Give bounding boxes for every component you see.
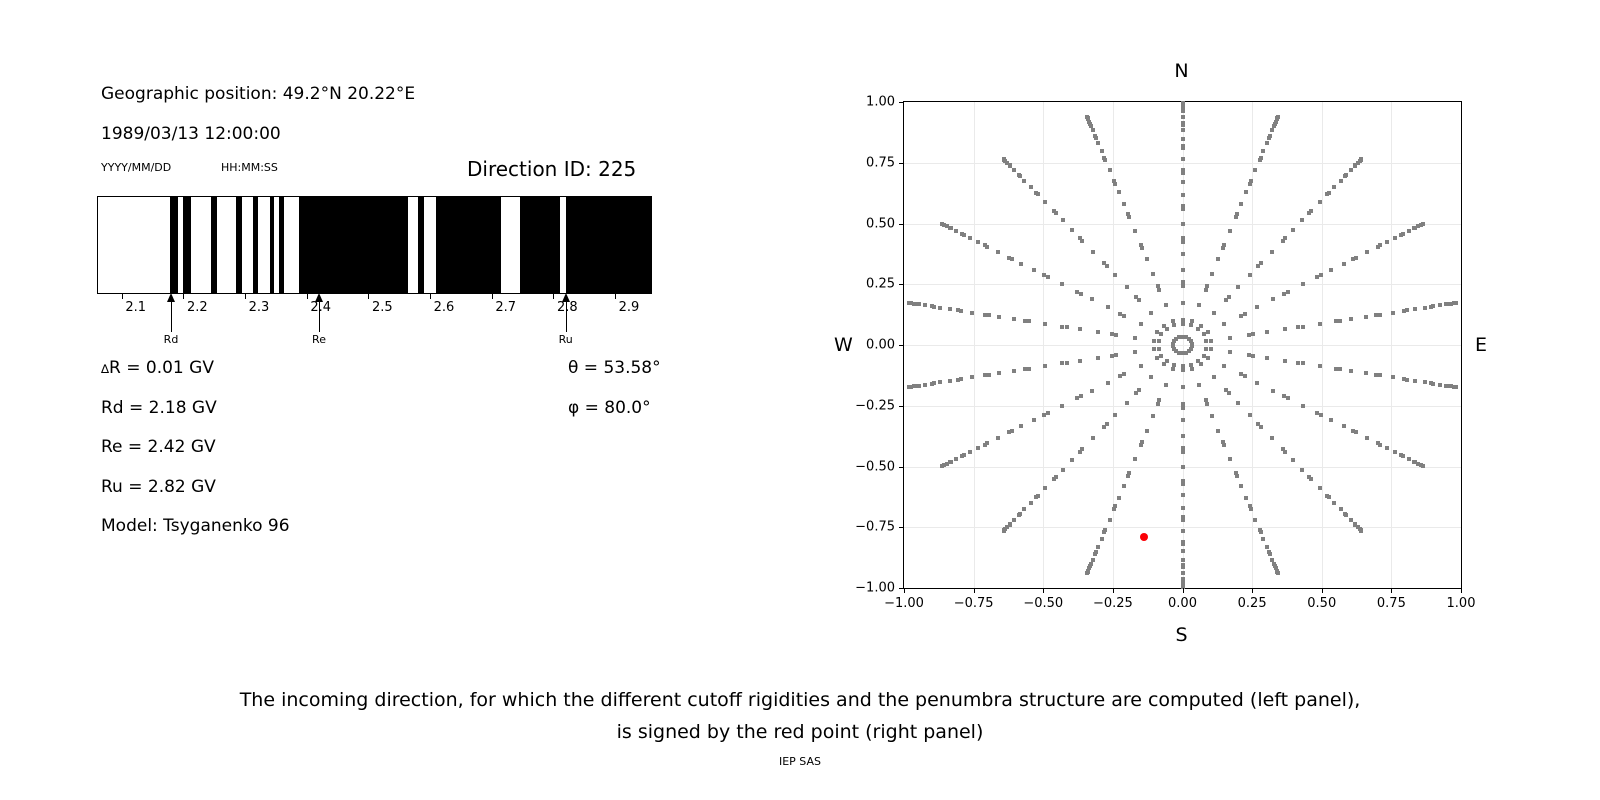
sky-direction-dot[interactable] bbox=[1286, 396, 1290, 400]
sky-direction-dot[interactable] bbox=[1255, 305, 1259, 309]
sky-direction-dot[interactable] bbox=[1061, 218, 1065, 222]
sky-direction-dot[interactable] bbox=[1100, 537, 1104, 541]
sky-direction-dot[interactable] bbox=[996, 436, 1000, 440]
sky-direction-dot[interactable] bbox=[1354, 430, 1358, 434]
sky-direction-dot[interactable] bbox=[1181, 268, 1185, 272]
sky-direction-dot[interactable] bbox=[968, 236, 972, 240]
sky-direction-dot[interactable] bbox=[1065, 361, 1069, 365]
sky-direction-dot[interactable] bbox=[1022, 179, 1026, 183]
sky-direction-dot[interactable] bbox=[1181, 493, 1185, 497]
sky-direction-dot[interactable] bbox=[976, 240, 980, 244]
sky-direction-dot[interactable] bbox=[1212, 311, 1216, 315]
sky-direction-dot[interactable] bbox=[1224, 298, 1228, 302]
sky-direction-dot[interactable] bbox=[1421, 222, 1425, 226]
sky-direction-dot[interactable] bbox=[1268, 552, 1272, 556]
sky-direction-dot[interactable] bbox=[1181, 450, 1185, 454]
sky-direction-dot[interactable] bbox=[1315, 275, 1319, 279]
sky-direction-dot[interactable] bbox=[1181, 101, 1185, 105]
sky-direction-dot[interactable] bbox=[1002, 157, 1006, 161]
sky-direction-dot[interactable] bbox=[1228, 457, 1232, 461]
sky-direction-dot[interactable] bbox=[1265, 141, 1269, 145]
sky-direction-dot[interactable] bbox=[1181, 368, 1185, 372]
sky-direction-dot[interactable] bbox=[1210, 272, 1214, 276]
sky-direction-dot[interactable] bbox=[948, 307, 952, 311]
sky-direction-dot[interactable] bbox=[1155, 330, 1159, 334]
sky-direction-dot[interactable] bbox=[1265, 330, 1269, 334]
sky-direction-dot[interactable] bbox=[1096, 141, 1100, 145]
sky-direction-dot[interactable] bbox=[1300, 218, 1304, 222]
sky-direction-dot[interactable] bbox=[1070, 458, 1074, 462]
sky-direction-dot[interactable] bbox=[1085, 115, 1089, 119]
sky-direction-dot[interactable] bbox=[1103, 528, 1107, 532]
sky-direction-dot[interactable] bbox=[1216, 429, 1220, 433]
sky-direction-dot[interactable] bbox=[1070, 228, 1074, 232]
sky-direction-dot[interactable] bbox=[1315, 411, 1319, 415]
sky-direction-dot[interactable] bbox=[1112, 179, 1116, 183]
sky-direction-dot[interactable] bbox=[1060, 404, 1064, 408]
sky-direction-dot[interactable] bbox=[1117, 190, 1121, 194]
sky-direction-dot[interactable] bbox=[1221, 246, 1225, 250]
sky-direction-dot[interactable] bbox=[1265, 356, 1269, 360]
sky-direction-dot[interactable] bbox=[1243, 374, 1247, 378]
sky-direction-dot[interactable] bbox=[1199, 362, 1203, 366]
sky-direction-dot[interactable] bbox=[976, 446, 980, 450]
sky-direction-dot[interactable] bbox=[1181, 506, 1185, 510]
sky-direction-dot[interactable] bbox=[1181, 518, 1185, 522]
sky-direction-dot[interactable] bbox=[1413, 379, 1417, 383]
sky-direction-dot[interactable] bbox=[1133, 229, 1137, 233]
sky-direction-dot[interactable] bbox=[1117, 496, 1121, 500]
sky-direction-dot[interactable] bbox=[1239, 372, 1243, 376]
sky-direction-dot[interactable] bbox=[1354, 256, 1358, 260]
sky-direction-dot[interactable] bbox=[1228, 336, 1232, 340]
sky-direction-dot[interactable] bbox=[1157, 288, 1161, 292]
sky-direction-dot[interactable] bbox=[1181, 236, 1185, 240]
sky-direction-dot[interactable] bbox=[1149, 375, 1153, 379]
sky-direction-dot[interactable] bbox=[1359, 529, 1363, 533]
sky-direction-dot[interactable] bbox=[1268, 134, 1272, 138]
sky-direction-dot[interactable] bbox=[1090, 389, 1094, 393]
sky-direction-dot[interactable] bbox=[1209, 339, 1213, 343]
sky-direction-dot[interactable] bbox=[1151, 414, 1155, 418]
sky-direction-dot[interactable] bbox=[1444, 384, 1448, 388]
sky-direction-dot[interactable] bbox=[1212, 375, 1216, 379]
sky-direction-dot[interactable] bbox=[1423, 306, 1427, 310]
sky-direction-dot[interactable] bbox=[1002, 529, 1006, 533]
sky-direction-dot[interactable] bbox=[1181, 571, 1185, 575]
sky-direction-dot[interactable] bbox=[1181, 482, 1185, 486]
sky-direction-dot[interactable] bbox=[1365, 250, 1369, 254]
sky-direction-dot[interactable] bbox=[985, 441, 989, 445]
sky-direction-dot[interactable] bbox=[1234, 215, 1238, 219]
sky-direction-dot[interactable] bbox=[1197, 383, 1201, 387]
sky-direction-dot[interactable] bbox=[1085, 571, 1089, 575]
sky-direction-dot[interactable] bbox=[1027, 319, 1031, 323]
sky-direction-dot[interactable] bbox=[1216, 257, 1220, 261]
sky-direction-dot[interactable] bbox=[1325, 494, 1329, 498]
sky-direction-dot[interactable] bbox=[1253, 518, 1257, 522]
sky-direction-dot[interactable] bbox=[1251, 354, 1255, 358]
sky-direction-dot[interactable] bbox=[1078, 327, 1082, 331]
sky-direction-dot[interactable] bbox=[1127, 215, 1131, 219]
sky-direction-dot[interactable] bbox=[1228, 229, 1232, 233]
sky-direction-dot[interactable] bbox=[940, 464, 944, 468]
sky-direction-dot[interactable] bbox=[1401, 454, 1405, 458]
sky-direction-dot[interactable] bbox=[1032, 418, 1036, 422]
sky-direction-dot[interactable] bbox=[1106, 381, 1110, 385]
sky-direction-dot[interactable] bbox=[1181, 137, 1185, 141]
sky-direction-dot[interactable] bbox=[1159, 332, 1163, 336]
sky-direction-dot[interactable] bbox=[1454, 301, 1458, 305]
sky-direction-dot[interactable] bbox=[1145, 429, 1149, 433]
sky-direction-dot[interactable] bbox=[1100, 149, 1104, 153]
sky-direction-dot[interactable] bbox=[1197, 303, 1201, 307]
sky-direction-dot[interactable] bbox=[1258, 528, 1262, 532]
sky-direction-dot[interactable] bbox=[1423, 380, 1427, 384]
sky-direction-dot[interactable] bbox=[1079, 394, 1083, 398]
sky-direction-dot[interactable] bbox=[1344, 173, 1348, 177]
sky-direction-dot[interactable] bbox=[1385, 240, 1389, 244]
sky-direction-dot[interactable] bbox=[1204, 339, 1208, 343]
sky-direction-dot[interactable] bbox=[1108, 518, 1112, 522]
sky-direction-dot[interactable] bbox=[1110, 354, 1114, 358]
sky-direction-dot[interactable] bbox=[1181, 465, 1185, 469]
sky-direction-dot[interactable] bbox=[1122, 314, 1126, 318]
sky-direction-dot[interactable] bbox=[1318, 486, 1322, 490]
sky-direction-dot[interactable] bbox=[1224, 388, 1228, 392]
sky-direction-dot[interactable] bbox=[1139, 364, 1143, 368]
sky-direction-dot[interactable] bbox=[1222, 322, 1226, 326]
sky-direction-dot[interactable] bbox=[1329, 418, 1333, 422]
sky-direction-dot[interactable] bbox=[1140, 246, 1144, 250]
sky-direction-dot[interactable] bbox=[1270, 250, 1274, 254]
sky-direction-dot[interactable] bbox=[1019, 424, 1023, 428]
sky-direction-dot[interactable] bbox=[1019, 262, 1023, 266]
sky-direction-dot[interactable] bbox=[1261, 149, 1265, 153]
sky-direction-dot[interactable] bbox=[997, 315, 1001, 319]
sky-direction-dot[interactable] bbox=[959, 309, 963, 313]
sky-direction-dot[interactable] bbox=[1046, 411, 1050, 415]
sky-direction-dot[interactable] bbox=[1122, 202, 1126, 206]
sky-direction-dot[interactable] bbox=[1189, 323, 1193, 327]
sky-direction-dot[interactable] bbox=[1122, 372, 1126, 376]
sky-direction-dot[interactable] bbox=[1172, 323, 1176, 327]
sky-direction-dot[interactable] bbox=[1342, 262, 1346, 266]
sky-direction-dot[interactable] bbox=[1283, 359, 1287, 363]
sky-direction-dot[interactable] bbox=[1391, 311, 1395, 315]
sky-direction-dot[interactable] bbox=[1139, 322, 1143, 326]
sky-direction-dot[interactable] bbox=[1181, 284, 1185, 288]
sky-direction-dot[interactable] bbox=[1319, 273, 1323, 277]
sky-direction-dot[interactable] bbox=[1181, 240, 1185, 244]
sky-direction-dot[interactable] bbox=[1152, 339, 1156, 343]
sky-direction-dot[interactable] bbox=[1149, 311, 1153, 315]
sky-direction-dot[interactable] bbox=[1089, 124, 1093, 128]
sky-direction-dot[interactable] bbox=[1204, 347, 1208, 351]
sky-direction-dot[interactable] bbox=[1181, 406, 1185, 410]
sky-direction-dot[interactable] bbox=[1181, 180, 1185, 184]
sky-direction-dot[interactable] bbox=[1249, 179, 1253, 183]
sky-direction-dot[interactable] bbox=[968, 450, 972, 454]
sky-direction-dot[interactable] bbox=[1133, 457, 1137, 461]
sky-direction-dot[interactable] bbox=[1271, 297, 1275, 301]
sky-direction-dot[interactable] bbox=[1052, 477, 1056, 481]
sky-direction-dot[interactable] bbox=[1318, 322, 1322, 326]
sky-direction-dot[interactable] bbox=[1112, 507, 1116, 511]
sky-direction-dot[interactable] bbox=[1244, 496, 1248, 500]
sky-direction-dot[interactable] bbox=[1012, 317, 1016, 321]
sky-direction-dot[interactable] bbox=[1036, 494, 1040, 498]
sky-direction-dot[interactable] bbox=[954, 457, 958, 461]
sky-direction-dot[interactable] bbox=[1281, 239, 1285, 243]
sky-direction-dot[interactable] bbox=[1152, 347, 1156, 351]
sky-direction-dot[interactable] bbox=[1091, 558, 1095, 562]
sky-direction-dot[interactable] bbox=[1332, 185, 1336, 189]
sky-direction-dot[interactable] bbox=[1454, 385, 1458, 389]
sky-direction-dot[interactable] bbox=[1181, 322, 1185, 326]
sky-direction-dot[interactable] bbox=[1407, 229, 1411, 233]
sky-direction-dot[interactable] bbox=[1438, 303, 1442, 307]
sky-direction-dot[interactable] bbox=[1385, 446, 1389, 450]
sky-direction-dot[interactable] bbox=[997, 371, 1001, 375]
sky-direction-dot[interactable] bbox=[1365, 436, 1369, 440]
sky-direction-dot[interactable] bbox=[1181, 121, 1185, 125]
sky-direction-dot[interactable] bbox=[1206, 330, 1210, 334]
sky-direction-dot[interactable] bbox=[1181, 434, 1185, 438]
sky-direction-dot[interactable] bbox=[1181, 115, 1185, 119]
sky-direction-dot[interactable] bbox=[1043, 486, 1047, 490]
sky-direction-dot[interactable] bbox=[1110, 332, 1114, 336]
sky-direction-dot[interactable] bbox=[1181, 109, 1185, 113]
sky-direction-dot[interactable] bbox=[1249, 507, 1253, 511]
sky-direction-dot[interactable] bbox=[1181, 193, 1185, 197]
sky-direction-dot[interactable] bbox=[1157, 339, 1161, 343]
sky-direction-dot[interactable] bbox=[1228, 350, 1232, 354]
sky-direction-dot[interactable] bbox=[1181, 301, 1185, 305]
sky-direction-dot[interactable] bbox=[1344, 513, 1348, 517]
sky-direction-dot[interactable] bbox=[1091, 128, 1095, 132]
sky-direction-dot[interactable] bbox=[1171, 319, 1175, 323]
sky-direction-dot[interactable] bbox=[1291, 228, 1295, 232]
sky-direction-dot[interactable] bbox=[1438, 383, 1442, 387]
sky-direction-dot[interactable] bbox=[1364, 315, 1368, 319]
sky-direction-dot[interactable] bbox=[1096, 545, 1100, 549]
sky-direction-dot[interactable] bbox=[1181, 540, 1185, 544]
sky-direction-dot[interactable] bbox=[1261, 537, 1265, 541]
sky-direction-dot[interactable] bbox=[1096, 356, 1100, 360]
sky-direction-dot[interactable] bbox=[1393, 236, 1397, 240]
sky-direction-dot[interactable] bbox=[1102, 261, 1106, 265]
sky-direction-dot[interactable] bbox=[1301, 404, 1305, 408]
sky-direction-dot[interactable] bbox=[1407, 457, 1411, 461]
sky-direction-dot[interactable] bbox=[985, 245, 989, 249]
sky-direction-dot[interactable] bbox=[1325, 192, 1329, 196]
sky-direction-dot[interactable] bbox=[1061, 468, 1065, 472]
sky-direction-dot[interactable] bbox=[1043, 322, 1047, 326]
sky-direction-dot[interactable] bbox=[1286, 290, 1290, 294]
sky-direction-dot[interactable] bbox=[1080, 447, 1084, 451]
sky-direction-dot[interactable] bbox=[907, 385, 911, 389]
sky-direction-dot[interactable] bbox=[1247, 333, 1251, 337]
sky-direction-dot[interactable] bbox=[1300, 468, 1304, 472]
sky-direction-dot[interactable] bbox=[1301, 361, 1305, 365]
sky-direction-dot[interactable] bbox=[1078, 359, 1082, 363]
sky-direction-dot[interactable] bbox=[1265, 545, 1269, 549]
sky-direction-dot[interactable] bbox=[1209, 347, 1213, 351]
sky-direction-dot[interactable] bbox=[1017, 173, 1021, 177]
sky-direction-dot[interactable] bbox=[1103, 158, 1107, 162]
sky-direction-dot[interactable] bbox=[1276, 571, 1280, 575]
sky-direction-dot[interactable] bbox=[1319, 413, 1323, 417]
sky-direction-dot[interactable] bbox=[1029, 501, 1033, 505]
sky-direction-dot[interactable] bbox=[1431, 382, 1435, 386]
sky-direction-dot[interactable] bbox=[1027, 367, 1031, 371]
sky-direction-dot[interactable] bbox=[1181, 252, 1185, 256]
sky-direction-dot[interactable] bbox=[1248, 413, 1252, 417]
sky-direction-dot[interactable] bbox=[1181, 549, 1185, 553]
sky-direction-dot[interactable] bbox=[1093, 134, 1097, 138]
sky-direction-dot[interactable] bbox=[1052, 209, 1056, 213]
sky-direction-dot[interactable] bbox=[1181, 418, 1185, 422]
sky-direction-dot[interactable] bbox=[1339, 179, 1343, 183]
sky-direction-dot[interactable] bbox=[1145, 257, 1149, 261]
sky-direction-dot[interactable] bbox=[1181, 207, 1185, 211]
sky-direction-dot[interactable] bbox=[1133, 336, 1137, 340]
sky-direction-dot[interactable] bbox=[917, 384, 921, 388]
sky-direction-dot[interactable] bbox=[1181, 558, 1185, 562]
sky-direction-dot[interactable] bbox=[1091, 250, 1095, 254]
sky-direction-dot[interactable] bbox=[1139, 243, 1143, 247]
sky-direction-dot[interactable] bbox=[1157, 347, 1161, 351]
sky-direction-dot[interactable] bbox=[1181, 318, 1185, 322]
sky-direction-dot[interactable] bbox=[1239, 314, 1243, 318]
sky-direction-dot[interactable] bbox=[1093, 552, 1097, 556]
sky-direction-dot[interactable] bbox=[1075, 396, 1079, 400]
sky-direction-dot[interactable] bbox=[1181, 157, 1185, 161]
sky-direction-dot[interactable] bbox=[1206, 356, 1210, 360]
sky-direction-dot[interactable] bbox=[1108, 168, 1112, 172]
sky-direction-dot[interactable] bbox=[1151, 272, 1155, 276]
sky-direction-dot[interactable] bbox=[996, 250, 1000, 254]
sky-direction-dot[interactable] bbox=[1164, 303, 1168, 307]
sky-direction-dot[interactable] bbox=[1253, 168, 1257, 172]
sky-direction-dot[interactable] bbox=[1181, 479, 1185, 483]
sky-direction-dot[interactable] bbox=[1177, 335, 1181, 339]
sky-direction-dot[interactable] bbox=[1391, 375, 1395, 379]
sky-direction-dot[interactable] bbox=[1125, 285, 1129, 289]
sky-direction-dot[interactable] bbox=[940, 222, 944, 226]
sky-direction-dot[interactable] bbox=[1349, 168, 1353, 172]
sky-direction-dot[interactable] bbox=[1251, 332, 1255, 336]
sky-direction-dot[interactable] bbox=[1091, 436, 1095, 440]
sky-direction-dot[interactable] bbox=[983, 373, 987, 377]
sky-direction-dot[interactable] bbox=[1444, 302, 1448, 306]
sky-direction-dot[interactable] bbox=[1137, 388, 1141, 392]
sky-direction-dot[interactable] bbox=[1402, 309, 1406, 313]
sky-direction-dot[interactable] bbox=[907, 301, 911, 305]
sky-direction-dot[interactable] bbox=[1164, 383, 1168, 387]
sky-direction-dot[interactable] bbox=[1309, 477, 1313, 481]
sky-direction-dot[interactable] bbox=[960, 232, 964, 236]
sky-direction-dot[interactable] bbox=[1239, 202, 1243, 206]
sky-direction-dot[interactable] bbox=[1139, 443, 1143, 447]
sky-direction-dot[interactable] bbox=[1046, 275, 1050, 279]
sky-direction-dot[interactable] bbox=[1334, 367, 1338, 371]
sky-direction-dot[interactable] bbox=[1060, 361, 1064, 365]
sky-direction-dot[interactable] bbox=[1413, 307, 1417, 311]
sky-direction-dot[interactable] bbox=[1421, 464, 1425, 468]
sky-direction-dot[interactable] bbox=[1137, 298, 1141, 302]
sky-direction-dot[interactable] bbox=[1301, 282, 1305, 286]
sky-direction-dot[interactable] bbox=[1181, 529, 1185, 533]
sky-direction-dot[interactable] bbox=[1236, 401, 1240, 405]
sky-direction-dot[interactable] bbox=[1133, 350, 1137, 354]
sky-direction-dot[interactable] bbox=[1204, 398, 1208, 402]
sky-direction-dot[interactable] bbox=[948, 379, 952, 383]
sky-direction-dot[interactable] bbox=[1378, 373, 1382, 377]
sky-direction-dot[interactable] bbox=[1122, 484, 1126, 488]
sky-direction-dot[interactable] bbox=[1205, 402, 1209, 406]
sky-direction-dot[interactable] bbox=[949, 226, 953, 230]
sky-direction-dot[interactable] bbox=[1114, 333, 1118, 337]
sky-direction-dot[interactable] bbox=[1043, 200, 1047, 204]
sky-direction-dot[interactable] bbox=[1243, 312, 1247, 316]
sky-direction-dot[interactable] bbox=[1239, 484, 1243, 488]
sky-direction-dot[interactable] bbox=[1364, 371, 1368, 375]
sky-direction-dot[interactable] bbox=[1181, 565, 1185, 569]
sky-direction-dot[interactable] bbox=[1012, 518, 1016, 522]
sky-direction-dot[interactable] bbox=[1259, 261, 1263, 265]
sky-direction-dot[interactable] bbox=[1181, 402, 1185, 406]
sky-direction-dot[interactable] bbox=[1402, 377, 1406, 381]
sky-direction-dot[interactable] bbox=[1102, 425, 1106, 429]
sky-direction-dot[interactable] bbox=[1007, 256, 1011, 260]
sky-direction-dot[interactable] bbox=[1125, 401, 1129, 405]
sky-direction-dot[interactable] bbox=[1334, 319, 1338, 323]
sky-direction-dot[interactable] bbox=[1210, 414, 1214, 418]
sky-direction-dot[interactable] bbox=[1127, 471, 1131, 475]
sky-direction-dot[interactable] bbox=[970, 311, 974, 315]
sky-direction-dot[interactable] bbox=[930, 382, 934, 386]
sky-direction-dot[interactable] bbox=[1181, 222, 1185, 226]
sky-direction-dot[interactable] bbox=[1349, 369, 1353, 373]
sky-direction-dot[interactable] bbox=[1283, 327, 1287, 331]
sky-direction-dot[interactable] bbox=[1113, 273, 1117, 277]
sky-direction-dot[interactable] bbox=[1114, 353, 1118, 357]
sky-direction-dot[interactable] bbox=[1012, 369, 1016, 373]
sky-direction-dot[interactable] bbox=[1017, 513, 1021, 517]
sky-direction-dot[interactable] bbox=[1060, 282, 1064, 286]
sky-direction-dot[interactable] bbox=[949, 460, 953, 464]
sky-direction-dot[interactable] bbox=[1401, 232, 1405, 236]
sky-direction-dot[interactable] bbox=[1022, 507, 1026, 511]
sky-direction-dot[interactable] bbox=[1181, 128, 1185, 132]
sky-direction-dot[interactable] bbox=[1236, 285, 1240, 289]
sky-direction-dot[interactable] bbox=[1012, 168, 1016, 172]
sky-direction-dot[interactable] bbox=[1259, 425, 1263, 429]
sky-direction-dot[interactable] bbox=[1090, 297, 1094, 301]
sky-direction-dot[interactable] bbox=[1376, 441, 1380, 445]
sky-direction-dot[interactable] bbox=[1329, 268, 1333, 272]
sky-direction-dot[interactable] bbox=[930, 304, 934, 308]
sky-direction-dot[interactable] bbox=[1359, 157, 1363, 161]
sky-direction-dot[interactable] bbox=[1157, 398, 1161, 402]
sky-direction-dot[interactable] bbox=[1075, 290, 1079, 294]
sky-direction-dot[interactable] bbox=[1043, 364, 1047, 368]
sky-direction-dot[interactable] bbox=[1318, 200, 1322, 204]
sky-direction-dot[interactable] bbox=[1156, 402, 1160, 406]
sky-direction-dot[interactable] bbox=[983, 313, 987, 317]
